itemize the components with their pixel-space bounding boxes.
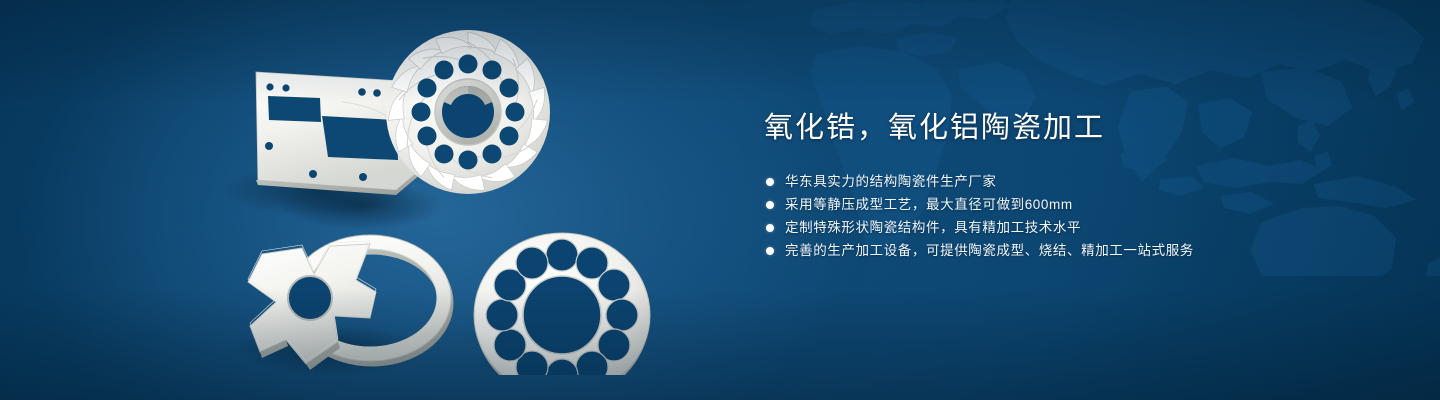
bullet-dot-icon: [766, 178, 774, 186]
list-item-label: 定制特殊形状陶瓷结构件，具有精加工技术水平: [785, 216, 1081, 239]
page-title: 氧化锆，氧化铝陶瓷加工: [764, 108, 1364, 148]
list-item: 华东具实力的结构陶瓷件生产厂家: [766, 170, 1364, 193]
hero-banner: 氧化锆，氧化铝陶瓷加工 华东具实力的结构陶瓷件生产厂家 采用等静压成型工艺，最大…: [0, 0, 1440, 400]
list-item-label: 华东具实力的结构陶瓷件生产厂家: [785, 170, 997, 193]
banner-copy-block: 氧化锆，氧化铝陶瓷加工 华东具实力的结构陶瓷件生产厂家 采用等静压成型工艺，最大…: [764, 108, 1364, 262]
bullet-dot-icon: [766, 247, 774, 255]
bullet-dot-icon: [766, 224, 774, 232]
feature-list: 华东具实力的结构陶瓷件生产厂家 采用等静压成型工艺，最大直径可做到600mm 定…: [764, 170, 1364, 262]
bullet-dot-icon: [766, 201, 774, 209]
list-item: 定制特殊形状陶瓷结构件，具有精加工技术水平: [766, 216, 1364, 239]
list-item: 采用等静压成型工艺，最大直径可做到600mm: [766, 193, 1364, 216]
list-item-label: 采用等静压成型工艺，最大直径可做到600mm: [785, 193, 1073, 216]
list-item-label: 完善的生产加工设备，可提供陶瓷成型、烧结、精加工一站式服务: [785, 239, 1194, 262]
list-item: 完善的生产加工设备，可提供陶瓷成型、烧结、精加工一站式服务: [766, 239, 1364, 262]
